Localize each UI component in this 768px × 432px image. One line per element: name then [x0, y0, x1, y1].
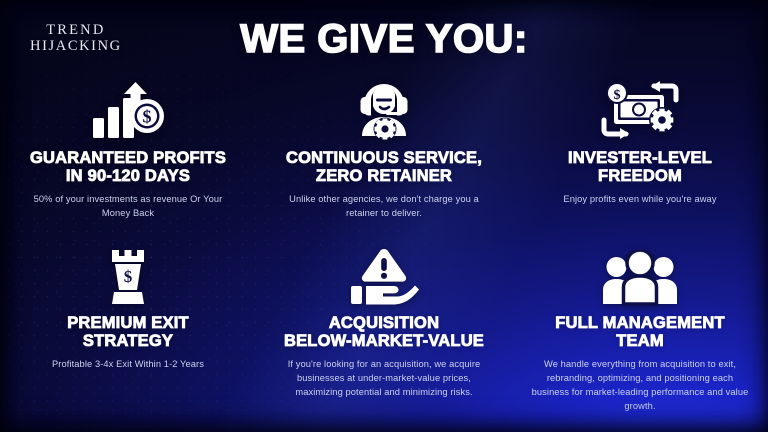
warning-hand-icon — [347, 246, 421, 306]
svg-text:$: $ — [614, 88, 621, 103]
benefit-card-title: INVESTER-LEVEL FREEDOM — [568, 149, 712, 185]
svg-text:$: $ — [143, 107, 152, 127]
benefit-card-title: GUARANTEED PROFITS IN 90-120 DAYS — [30, 149, 226, 185]
people-group-icon — [601, 246, 679, 306]
banknote-cycle-gear-icon: $ — [600, 78, 680, 140]
benefits-grid: $ GUARANTEED PROFITS IN 90-120 DAYS 50% … — [0, 78, 768, 413]
benefit-card-acquisition-below-market-value: ACQUISITION BELOW-MARKET-VALUE If you're… — [256, 246, 512, 413]
page-title: WE GIVE YOU: — [0, 17, 768, 62]
benefit-card-description: Profitable 3-4x Exit Within 1-2 Years — [52, 358, 204, 372]
benefit-card-description: Enjoy profits even while you're away — [563, 193, 716, 207]
benefit-card-guaranteed-profits: $ GUARANTEED PROFITS IN 90-120 DAYS 50% … — [0, 78, 256, 246]
benefit-card-full-management-team: FULL MANAGEMENT TEAM We handle everythin… — [512, 246, 768, 413]
benefit-card-premium-exit-strategy: $ PREMIUM EXIT STRATEGY Profitable 3-4x … — [0, 246, 256, 413]
benefit-card-description: If you're looking for an acquisition, we… — [277, 358, 491, 399]
slide-canvas: TREND HIJACKING WE GIVE YOU: $ GUARANTEE… — [0, 0, 768, 432]
growth-chart-dollar-icon: $ — [91, 78, 165, 140]
benefit-card-title: FULL MANAGEMENT TEAM — [555, 314, 725, 350]
benefit-card-title: ACQUISITION BELOW-MARKET-VALUE — [284, 314, 484, 350]
chess-rook-dollar-icon: $ — [104, 246, 152, 306]
benefit-card-title: CONTINUOUS SERVICE, ZERO RETAINER — [286, 149, 482, 185]
benefit-card-description: 50% of your investments as revenue Or Yo… — [22, 193, 234, 221]
svg-text:$: $ — [124, 267, 133, 286]
benefit-card-description: We handle everything from acquisition to… — [527, 358, 753, 413]
benefit-card-description: Unlike other agencies, we don't charge y… — [278, 193, 490, 221]
support-agent-gear-icon — [351, 78, 417, 140]
benefit-card-title: PREMIUM EXIT STRATEGY — [67, 314, 189, 350]
benefit-card-investor-level-freedom: $ — [512, 78, 768, 246]
benefit-card-continuous-service: CONTINUOUS SERVICE, ZERO RETAINER Unlike… — [256, 78, 512, 246]
